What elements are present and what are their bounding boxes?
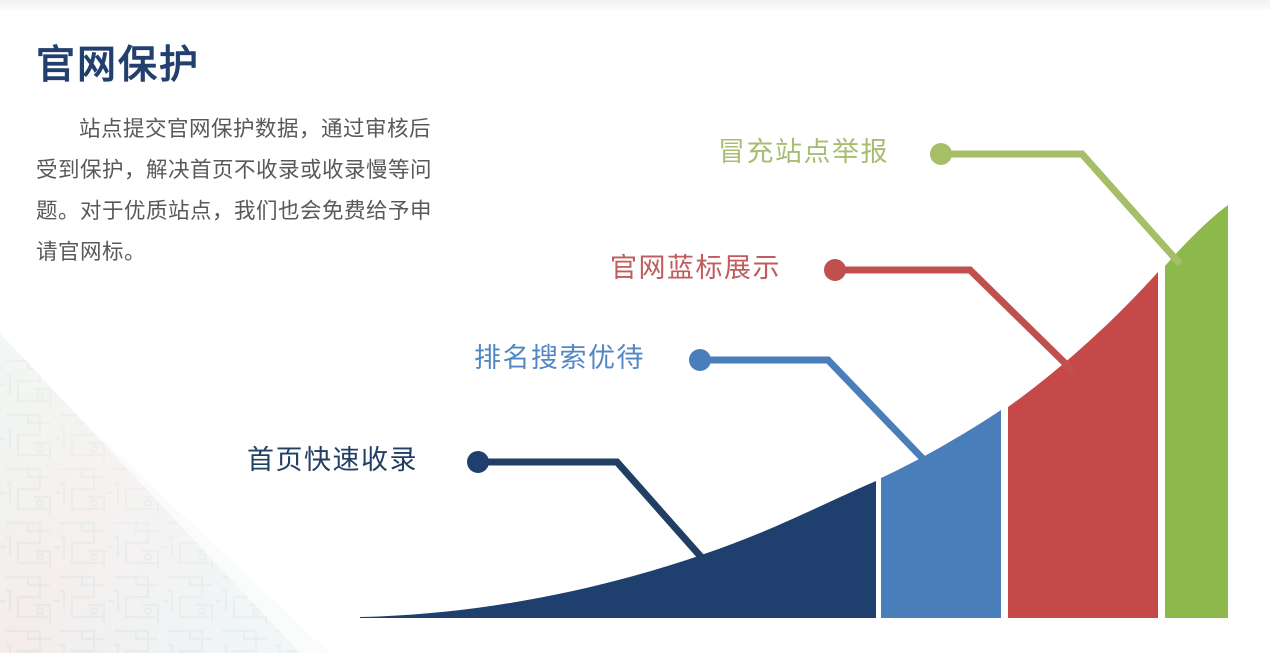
chart-connector-dots bbox=[467, 143, 952, 473]
connector-dot-4 bbox=[930, 143, 952, 165]
connector-dot-3 bbox=[824, 259, 846, 281]
connector-dot-1 bbox=[467, 451, 489, 473]
connector-dot-2 bbox=[689, 349, 711, 371]
slide-canvas: 官网保护 站点提交官网保护数据，通过审核后受到保护，解决首页不收录或收录慢等问题… bbox=[0, 0, 1270, 653]
connector-line-2 bbox=[700, 360, 926, 462]
callout-label-4: 冒充站点举报 bbox=[718, 139, 889, 166]
connector-line-4 bbox=[941, 154, 1180, 264]
callout-label-2: 排名搜索优待 bbox=[474, 345, 645, 372]
bar-segment-3 bbox=[1008, 272, 1158, 618]
bar-segment-2 bbox=[881, 410, 1001, 618]
ascending-bar-chart bbox=[0, 0, 1270, 653]
bar-segment-4 bbox=[1165, 205, 1228, 618]
callout-label-1: 首页快速收录 bbox=[247, 447, 418, 474]
connector-line-1 bbox=[478, 462, 702, 558]
callout-label-3: 官网蓝标展示 bbox=[610, 255, 781, 282]
bar-segment-1 bbox=[360, 481, 876, 618]
connector-line-3 bbox=[835, 270, 1074, 372]
chart-bars bbox=[360, 205, 1228, 618]
